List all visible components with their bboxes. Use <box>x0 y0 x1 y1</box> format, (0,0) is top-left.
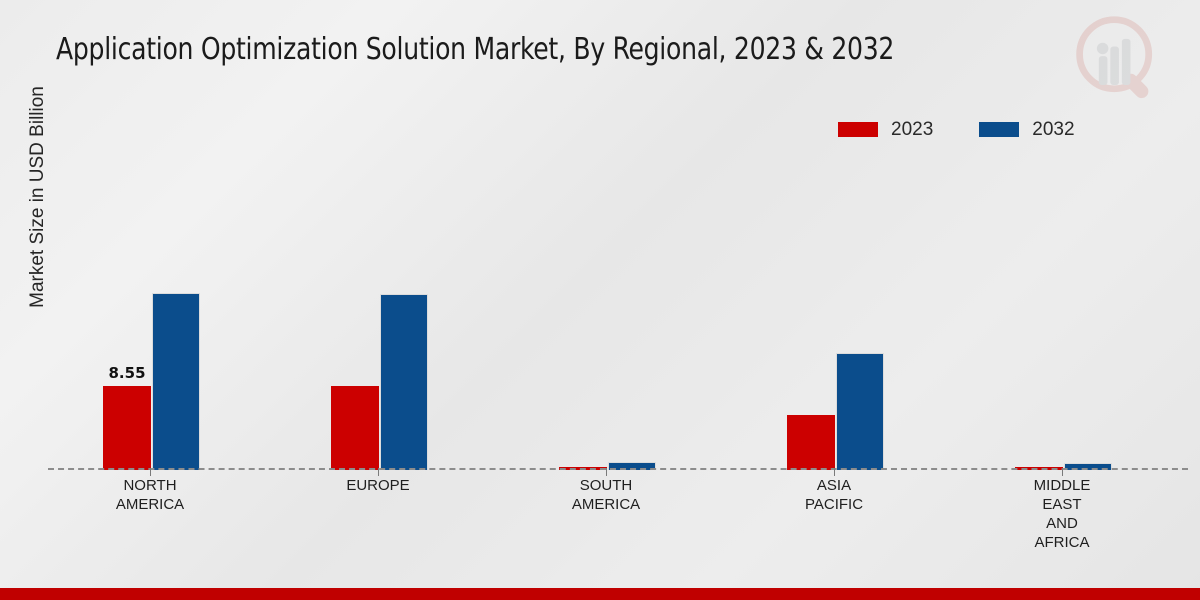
x-axis-label-north-america: NORTH AMERICA <box>70 476 230 514</box>
axis-tick <box>378 468 379 476</box>
x-label-line: AFRICA <box>982 533 1142 552</box>
x-label-line: SOUTH <box>526 476 686 495</box>
x-axis-label-asia-pacific: ASIA PACIFIC <box>754 476 914 514</box>
chart-legend: 2023 2032 <box>838 120 1075 139</box>
x-axis-label-south-america: SOUTH AMERICA <box>526 476 686 514</box>
x-label-line: AMERICA <box>70 495 230 514</box>
bar-2032-europe[interactable] <box>380 294 428 470</box>
watermark-logo-icon <box>1070 12 1166 108</box>
bar-2032-asia-pacific[interactable] <box>836 353 884 470</box>
axis-tick <box>150 468 151 476</box>
bar-2023-asia-pacific[interactable] <box>787 415 835 470</box>
bar-group-europe <box>328 160 428 470</box>
bar-2023-europe[interactable] <box>331 386 379 470</box>
plot-area: 8.55 <box>48 160 1188 470</box>
bar-2032-north-america[interactable] <box>152 293 200 470</box>
legend-swatch-2023 <box>838 122 878 137</box>
axis-tick <box>1062 468 1063 476</box>
y-axis-title: Market Size in USD Billion <box>27 17 49 377</box>
x-label-line: MIDDLE <box>982 476 1142 495</box>
bar-group-north-america: 8.55 <box>100 160 200 470</box>
axis-tick <box>606 468 607 476</box>
chart-title: Application Optimization Solution Market… <box>56 32 894 67</box>
legend-item-2023[interactable]: 2023 <box>838 120 933 139</box>
x-label-line: AMERICA <box>526 495 686 514</box>
x-axis-label-middle-east-and-africa: MIDDLE EAST AND AFRICA <box>982 476 1142 552</box>
x-axis-labels: NORTH AMERICA EUROPE SOUTH AMERICA ASIA … <box>48 476 1188 586</box>
axis-baseline <box>48 468 1188 470</box>
legend-swatch-2032 <box>979 122 1019 137</box>
x-axis-label-europe: EUROPE <box>298 476 458 495</box>
x-label-line: EAST <box>982 495 1142 514</box>
x-label-line: NORTH <box>70 476 230 495</box>
x-label-line: PACIFIC <box>754 495 914 514</box>
x-label-line: EUROPE <box>298 476 458 495</box>
bar-group-asia-pacific <box>784 160 884 470</box>
legend-item-2032[interactable]: 2032 <box>979 120 1074 139</box>
chart-container: Application Optimization Solution Market… <box>0 0 1200 600</box>
axis-tick <box>834 468 835 476</box>
legend-label-2023: 2023 <box>891 120 933 139</box>
bar-group-south-america <box>556 160 656 470</box>
bar-2023-north-america[interactable]: 8.55 <box>103 386 151 470</box>
x-label-line: AND <box>982 514 1142 533</box>
bar-value-label: 8.55 <box>108 364 145 382</box>
bar-group-middle-east-and-africa <box>1012 160 1112 470</box>
legend-label-2032: 2032 <box>1032 120 1074 139</box>
x-label-line: ASIA <box>754 476 914 495</box>
footer-accent-bar <box>0 588 1200 600</box>
